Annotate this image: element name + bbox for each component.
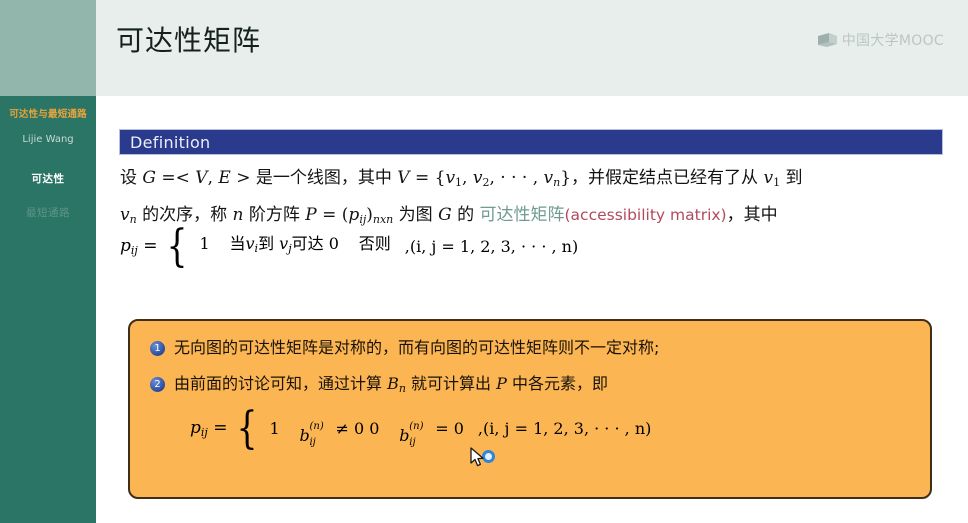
sidebar: 可达性与最短通路 Lijie Wang 可达性 最短通路 (0, 96, 96, 523)
cb2-Bn: n (399, 382, 406, 395)
def-l1-close: } (560, 168, 571, 188)
sidebar-author: Lijie Wang (0, 134, 96, 145)
definition-header-label: Definition (130, 133, 210, 152)
def-l1-V: V (195, 168, 207, 188)
bullet-badge-2-icon: 2 (150, 377, 165, 392)
cube-logo-icon (818, 33, 838, 47)
brand-logo: 中国大学MOOC (818, 30, 944, 50)
def-l2-e: ，其中 (727, 205, 778, 225)
f2-c1-val: 1 (269, 414, 299, 444)
def-l1-v1s: 1 (455, 176, 462, 189)
callout-bullet-2-text: 由前面的讨论可知，通过计算 Bn 就可计算出 P 中各元素，即 (174, 373, 608, 400)
f1-p: p (120, 236, 131, 256)
def-l1-d: 到 (780, 168, 802, 188)
def-l2-paren: ) (366, 205, 373, 225)
def-l1-c1: , (462, 168, 473, 188)
def-l2-nxn: nxn (373, 213, 393, 226)
f1-c1-b: 到 (258, 234, 279, 253)
f2-c2-bterm: b(n)ij (399, 421, 419, 437)
def-l1-v1bs: 1 (773, 176, 780, 189)
formula1-lhs: pij = (120, 236, 157, 257)
f2-c1-bterm: b(n)ij (299, 421, 319, 437)
def-l2-eq: = ( (317, 205, 349, 225)
formula1-cases: 1当vi到 vj可达 0否则 (199, 231, 390, 262)
brace-icon: { (167, 227, 188, 267)
def-l1-eq: =< (156, 168, 195, 188)
def-l2-d: 的 (452, 205, 480, 225)
def-l2-p: p (348, 205, 359, 225)
sidebar-item-shortest-path[interactable]: 最短通路 (0, 201, 96, 224)
formula2-cases: 1b(n)ij≠ 0 0b(n)ij= 0 (269, 414, 463, 444)
f2-p: p (190, 418, 201, 438)
sidebar-deck-title: 可达性与最短通路 (0, 96, 96, 122)
presentation-slide: 可达性与最短通路 Lijie Wang 可达性 最短通路 可达性矩阵 中国大学M… (0, 0, 968, 523)
orange-callout-box: 1 无向图的可达性矩阵是对称的，而有向图的可达性矩阵则不一定对称; 2 由前面的… (128, 319, 932, 499)
f1-ij: ij (131, 244, 138, 257)
f1-c2-txt: 否则 (359, 234, 391, 253)
def-l1-b: 是一个线图，其中 (256, 168, 397, 188)
def-l2-vns: n (130, 213, 137, 226)
slide-header: 可达性矩阵 中国大学MOOC (96, 0, 968, 96)
f2-c1-sub: ij (309, 428, 315, 458)
f2-c2-sub: ij (409, 428, 415, 458)
callout-formula: pij = { 1b(n)ij≠ 0 0b(n)ij= 0 ,(i, j = 1… (190, 409, 651, 449)
def-l1-a: 设 (120, 168, 142, 188)
f2-c2-b: b (399, 426, 409, 445)
def-l2-vn: v (120, 205, 130, 225)
def-keyword-zh: 可达性矩阵 (479, 205, 564, 225)
formula1-case-1: 1当vi到 vj可达 (199, 234, 323, 253)
f2-c2-val: 0 (369, 414, 399, 444)
sidebar-top-block (0, 0, 96, 96)
def-keyword-en: accessibility matrix (571, 206, 721, 224)
sidebar-item-reachability[interactable]: 可达性 (0, 167, 96, 190)
callout-bullet-2: 2 由前面的讨论可知，通过计算 Bn 就可计算出 P 中各元素，即 (150, 373, 608, 400)
def-l2-c: 为图 (393, 205, 438, 225)
definition-formula: pij = { 1当vi到 vj可达 0否则 ,(i, j = 1, 2, 3,… (120, 227, 578, 267)
def-l1-vn: v (544, 168, 554, 188)
def-l2-n: n (233, 205, 244, 225)
def-l1-G: G (142, 168, 156, 188)
def-l1-comma: , (208, 168, 219, 188)
f1-c1-c: 可达 (292, 234, 324, 253)
f1-c2-val: 0 (329, 231, 359, 257)
f1-c1-vi: v (246, 234, 255, 253)
callout-bullet-1-text: 无向图的可达性矩阵是对称的，而有向图的可达性矩阵则不一定对称; (174, 337, 659, 359)
f1-eq: = (138, 236, 158, 256)
click-ring-icon (482, 450, 495, 463)
formula2-lhs: pij = (190, 418, 227, 439)
cb2-P: P (496, 374, 507, 393)
definition-header-bar: Definition (119, 129, 943, 155)
f2-c1-rel: ≠ 0 (335, 419, 364, 438)
sidebar-nav: 可达性 最短通路 (0, 167, 96, 224)
cb2-a: 由前面的讨论可知，通过计算 (174, 374, 387, 393)
formula2-tail: ,(i, j = 1, 2, 3, · · · , n) (478, 419, 651, 438)
f1-c1-a: 当 (229, 234, 245, 253)
formula2-case-1: 1b(n)ij≠ 0 (269, 419, 364, 438)
def-l1-gt: > (231, 168, 256, 188)
page-title: 可达性矩阵 (116, 19, 261, 59)
def-l2-b: 阶方阵 (243, 205, 305, 225)
cb2-b: 就可计算出 (406, 374, 496, 393)
f2-c2-rel: = 0 (435, 419, 464, 438)
f2-c1-b: b (299, 426, 309, 445)
f1-c1-val: 1 (199, 231, 229, 257)
def-l1-V2: V (397, 168, 409, 188)
f2-eq: = (208, 418, 228, 438)
formula2-case-2: 0b(n)ij= 0 (369, 419, 464, 438)
def-l1-v1b: v (763, 168, 773, 188)
cb2-B: B (387, 374, 399, 393)
f2-ij: ij (201, 426, 208, 439)
def-l1-E: E (218, 168, 230, 188)
def-l1-v1: v (445, 168, 455, 188)
slide-body: Definition 设 G =< V, E > 是一个线图，其中 V = {v… (96, 96, 968, 523)
def-l2-G: G (438, 205, 452, 225)
formula1-tail: ,(i, j = 1, 2, 3, · · · , n) (405, 237, 578, 256)
definition-line-1: 设 G =< V, E > 是一个线图，其中 V = {v1, v2, · · … (120, 162, 948, 199)
def-l1-dots: , · · · , (489, 168, 543, 188)
callout-bullet-1: 1 无向图的可达性矩阵是对称的，而有向图的可达性矩阵则不一定对称; (150, 337, 659, 359)
cb2-c: 中各元素，即 (507, 374, 608, 393)
definition-text: 设 G =< V, E > 是一个线图，其中 V = {v1, v2, · · … (120, 162, 948, 236)
def-l2-P: P (305, 205, 316, 225)
brand-logo-text: 中国大学MOOC (842, 30, 944, 50)
piecewise-definition: pij = { 1当vi到 vj可达 0否则 ,(i, j = 1, 2, 3,… (120, 227, 578, 267)
piecewise-callout: pij = { 1b(n)ij≠ 0 0b(n)ij= 0 ,(i, j = 1… (190, 409, 651, 449)
def-l1-set: = { (410, 168, 446, 188)
formula1-case-2: 0否则 (329, 234, 391, 253)
bullet-badge-1-icon: 1 (150, 341, 165, 356)
def-l1-c: ，并假定结点已经有了从 (571, 168, 763, 188)
brace-icon-2: { (237, 409, 258, 449)
f1-c1-vj: v (279, 234, 288, 253)
